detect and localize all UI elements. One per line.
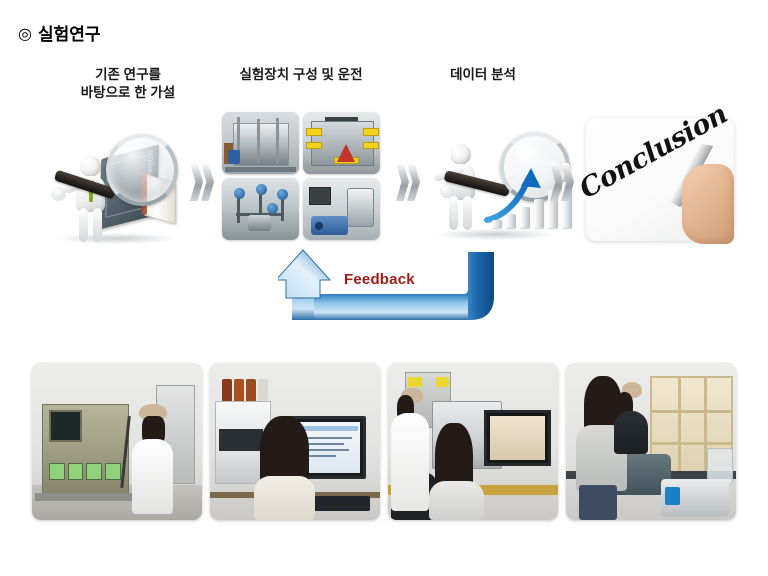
- step-label-apparatus: 실험장치 구성 및 운전: [218, 66, 384, 84]
- chevron-right-icon: [190, 163, 216, 201]
- person-background: [614, 382, 648, 454]
- magnifier-knob: [51, 186, 66, 201]
- lab-photo-instrument-operation: [566, 363, 736, 520]
- apparatus-photo-2: [303, 112, 380, 174]
- step-label-hypothesis: 기존 연구를 바탕으로 한 가설: [48, 66, 208, 102]
- magnifier-knob: [440, 184, 454, 198]
- person: [254, 416, 315, 520]
- page-title-text: 실험연구: [38, 25, 101, 44]
- monitor: [484, 410, 551, 466]
- flow-node-hypothesis: BOOK: [42, 126, 192, 246]
- apparatus-photo-grid: [222, 112, 380, 240]
- magnifier-lens: [106, 134, 178, 206]
- apparatus-photo-3: [222, 178, 299, 240]
- lab-photo-two-researchers: [388, 363, 558, 520]
- person-standing: [391, 388, 428, 510]
- photo-strip: [32, 363, 736, 520]
- lab-photo-computer-hplc: [210, 363, 380, 520]
- apparatus-photo-1: [222, 112, 299, 174]
- flow-node-analysis: [420, 122, 570, 242]
- bullet-icon: ◎: [18, 26, 32, 43]
- flow-node-apparatus: [222, 112, 380, 240]
- page-title: ◎실험연구: [18, 20, 101, 45]
- step-label-analysis: 데이터 분석: [408, 66, 558, 84]
- apparatus-photo-4: [303, 178, 380, 240]
- chevron-right-icon: [550, 163, 576, 201]
- flow-node-conclusion: Conclusion: [580, 112, 740, 247]
- hand-with-pen-icon: [672, 130, 734, 242]
- figure-shadow: [438, 229, 552, 240]
- hand-palm: [682, 164, 734, 244]
- person: [131, 404, 175, 514]
- person-seated: [429, 423, 480, 520]
- feedback-label: Feedback: [344, 271, 415, 288]
- magnifier-icon: [56, 134, 176, 218]
- feedback-loop-arrow: [278, 248, 510, 340]
- chevron-right-icon: [396, 163, 422, 201]
- lab-photo-control-panel: [32, 363, 202, 520]
